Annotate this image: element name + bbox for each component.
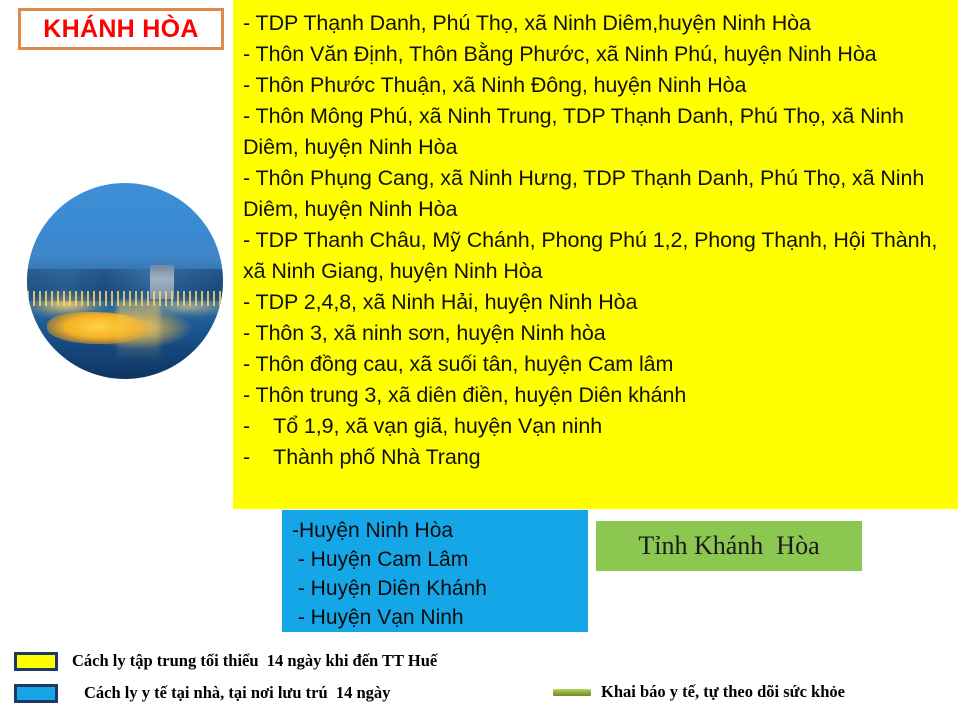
green-line-icon — [553, 689, 591, 696]
legend-item-central-quarantine: Cách ly tập trung tối thiểu 14 ngày khi … — [14, 652, 437, 671]
legend-label: Cách ly tập trung tối thiểu 14 ngày khi … — [72, 652, 437, 670]
province-label-text: Tỉnh Khánh Hòa — [638, 533, 819, 559]
legend-item-home-quarantine: Cách ly y tế tại nhà, tại nơi lưu trú 14… — [14, 684, 390, 703]
location-line: - Tổ 1,9, xã vạn giã, huyện Vạn ninh — [243, 411, 948, 442]
location-line: - Thành phố Nhà Trang — [243, 442, 948, 473]
photo-sky-water-background — [27, 183, 223, 379]
city-skyline-photo — [27, 183, 223, 379]
district-line: -Huyện Ninh Hòa — [292, 516, 588, 545]
yellow-swatch-icon — [14, 652, 58, 671]
province-title-text: KHÁNH HÒA — [43, 17, 198, 42]
location-line: - Thôn đồng cau, xã suối tân, huyện Cam … — [243, 349, 948, 380]
province-label-badge: Tỉnh Khánh Hòa — [596, 521, 862, 571]
location-line: - TDP Thanh Châu, Mỹ Chánh, Phong Phú 1,… — [243, 225, 948, 287]
district-line: - Huyện Vạn Ninh — [292, 603, 588, 632]
location-line: - Thôn Văn Định, Thôn Bằng Phước, xã Nin… — [243, 39, 948, 70]
location-line: - TDP 2,4,8, xã Ninh Hải, huyện Ninh Hòa — [243, 287, 948, 318]
location-line: - TDP Thạnh Danh, Phú Thọ, xã Ninh Diêm,… — [243, 8, 948, 39]
district-line: - Huyện Cam Lâm — [292, 545, 588, 574]
quarantine-locations-panel: - TDP Thạnh Danh, Phú Thọ, xã Ninh Diêm,… — [233, 0, 958, 509]
district-line: - Huyện Diên Khánh — [292, 574, 588, 603]
location-line: - Thôn Phụng Cang, xã Ninh Hưng, TDP Thạ… — [243, 163, 948, 225]
legend-label: Cách ly y tế tại nhà, tại nơi lưu trú 14… — [84, 684, 390, 702]
location-line: - Thôn 3, xã ninh sơn, huyện Ninh hòa — [243, 318, 948, 349]
location-line: - Thôn Phước Thuận, xã Ninh Đông, huyện … — [243, 70, 948, 101]
blue-swatch-icon — [14, 684, 58, 703]
province-title-box: KHÁNH HÒA — [18, 8, 224, 50]
photo-water-reflection — [117, 301, 160, 360]
location-line: - Thôn Mông Phú, xã Ninh Trung, TDP Thạn… — [243, 101, 948, 163]
home-quarantine-districts-panel: -Huyện Ninh Hòa - Huyện Cam Lâm - Huyện … — [282, 510, 588, 632]
legend-item-health-declaration: Khai báo y tế, tự theo dõi sức khỏe — [553, 683, 845, 701]
legend-label: Khai báo y tế, tự theo dõi sức khỏe — [601, 683, 845, 701]
location-line: - Thôn trung 3, xã diên điền, huyện Diên… — [243, 380, 948, 411]
